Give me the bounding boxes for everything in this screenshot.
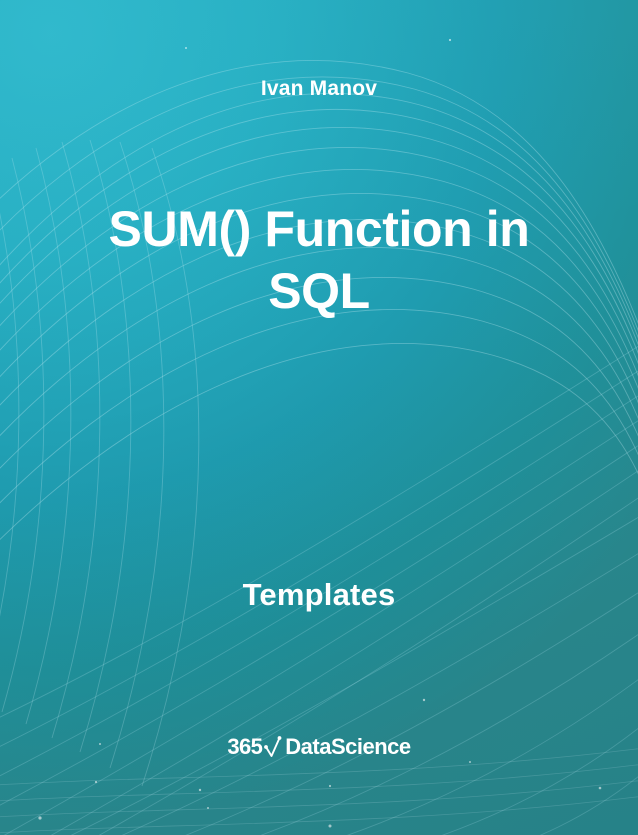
brand-logo: 365 DataScience <box>0 735 638 759</box>
book-cover: Ivan Manov SUM() Function in SQL Templat… <box>0 0 638 835</box>
author-name: Ivan Manov <box>0 77 638 101</box>
page-title: SUM() Function in SQL <box>60 198 578 322</box>
page-title-line-2: SQL <box>60 260 578 322</box>
cover-content: Ivan Manov SUM() Function in SQL Templat… <box>0 0 638 835</box>
brand-logo-number: 365 <box>227 736 262 758</box>
checkmark-node-icon <box>264 735 284 759</box>
brand-logo-word: DataScience <box>285 736 410 758</box>
page-title-line-1: SUM() Function in <box>60 198 578 260</box>
subtitle-category: Templates <box>0 577 638 613</box>
